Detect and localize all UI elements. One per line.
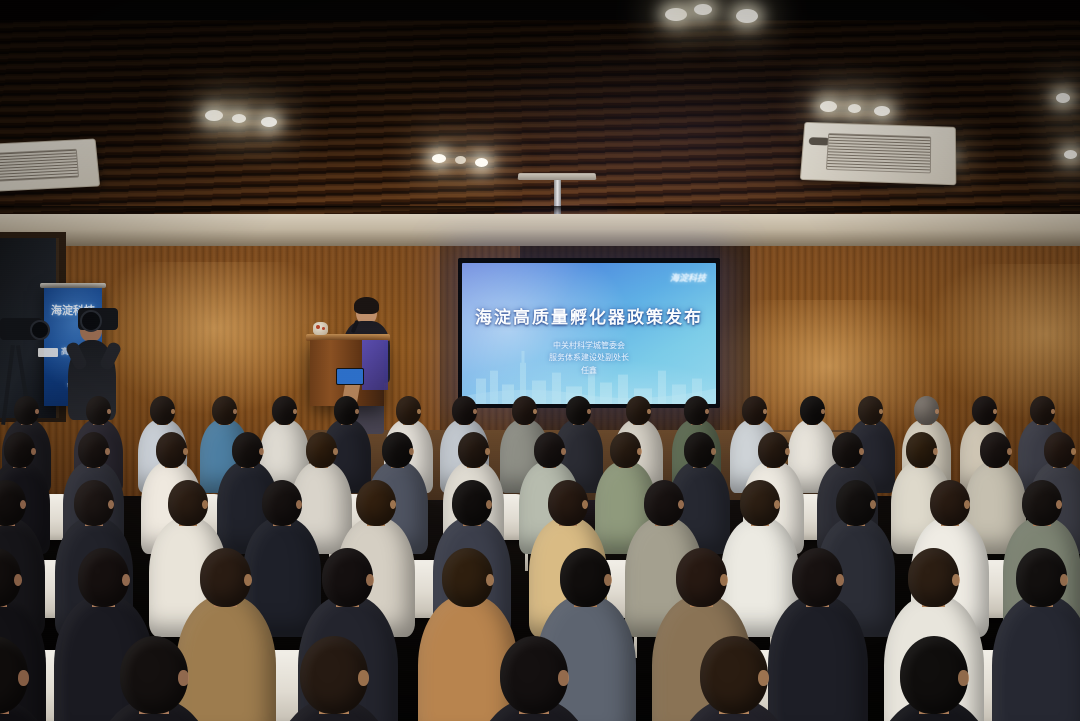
ceiling-downlight	[475, 158, 488, 167]
slide-subtitle-3: 任鑫	[462, 366, 716, 377]
audience-member-ear	[836, 574, 844, 586]
ac-grille	[826, 133, 931, 173]
audience-member-ear	[18, 670, 28, 686]
ceiling-downlight	[665, 8, 687, 21]
audience-member-ear	[333, 448, 338, 455]
audience-member-ear	[558, 670, 568, 686]
audience-member-ear	[486, 574, 494, 586]
ceiling-downlight	[232, 114, 246, 123]
slide-logo: 海淀科技	[670, 271, 706, 284]
audience-member-ear	[409, 448, 414, 455]
presenter-hair	[354, 297, 379, 314]
audience-member-ear	[1071, 448, 1076, 455]
ceiling-downlight	[432, 154, 446, 163]
ceiling-downlight	[820, 101, 837, 112]
audience-member-ear	[1060, 574, 1068, 586]
audience-member-ear	[637, 448, 642, 455]
audience-member-ear	[952, 574, 960, 586]
screen-sheen	[462, 263, 716, 404]
banner-badge	[38, 348, 58, 357]
audience-member-ear	[720, 574, 728, 586]
ceiling-downlight	[874, 106, 890, 116]
audience-member-ear	[561, 448, 566, 455]
ac-slot	[808, 137, 830, 145]
audience-member-ear	[711, 448, 716, 455]
ceiling-downlight	[261, 117, 277, 127]
ceiling-downlight	[694, 4, 712, 15]
audience-member-ear	[178, 670, 188, 686]
flower-arrangement	[313, 322, 328, 335]
audience-member-ear	[758, 670, 768, 686]
slide-subtitle-2: 服务体系建设处副处长	[462, 353, 716, 364]
audience-member-ear	[785, 448, 790, 455]
audience-member-ear	[366, 574, 374, 586]
video-camera-lens	[30, 320, 50, 340]
audience-member-ear	[604, 574, 612, 586]
audience-member-ear	[244, 574, 252, 586]
audience-member-ear	[259, 448, 264, 455]
ac-vent-right	[800, 122, 956, 185]
audience-member-ear	[122, 574, 130, 586]
audience-member-ear	[933, 448, 938, 455]
ceiling-soffit-band	[0, 214, 1080, 248]
ceiling-downlight	[1056, 93, 1070, 103]
audience-member-torso	[176, 595, 276, 721]
ac-vent-left	[0, 138, 100, 192]
ceiling-downlight	[1064, 150, 1077, 159]
dslr-camera-lens	[80, 310, 102, 332]
flower-accent	[322, 327, 325, 330]
audience-member-ear	[485, 448, 490, 455]
audience-member-ear	[1007, 448, 1012, 455]
slide-title: 海淀高质量孵化器政策发布	[462, 303, 716, 328]
audience-member-ear	[358, 670, 368, 686]
audience-member-ear	[859, 448, 864, 455]
flower-accent	[316, 325, 320, 329]
audience-member-ear	[14, 574, 22, 586]
smartphone[interactable]	[336, 368, 364, 385]
ceiling-downlight	[455, 156, 466, 164]
ceiling-downlight	[848, 104, 861, 113]
ceiling-downlight	[205, 110, 223, 121]
ac-grille	[0, 148, 79, 182]
audience-member-ear	[183, 448, 188, 455]
projector-ceiling-plate	[518, 173, 597, 180]
conference-hall-photo: 海淀科技 高质量 创新	[0, 0, 1080, 721]
audience-member-torso	[768, 595, 868, 721]
audience-member-ear	[31, 448, 36, 455]
podium-blue-panel	[362, 340, 388, 390]
projection-screen[interactable]: 海淀科技 海淀高质量孵化器政策发布 中关村科学城管委会 服务体系建设处副处长 任…	[462, 263, 716, 404]
audience-member-ear	[105, 448, 110, 455]
audience-member-ear	[958, 670, 968, 686]
ceiling-downlight	[736, 9, 758, 23]
slide-subtitle-1: 中关村科学城管委会	[462, 341, 716, 352]
